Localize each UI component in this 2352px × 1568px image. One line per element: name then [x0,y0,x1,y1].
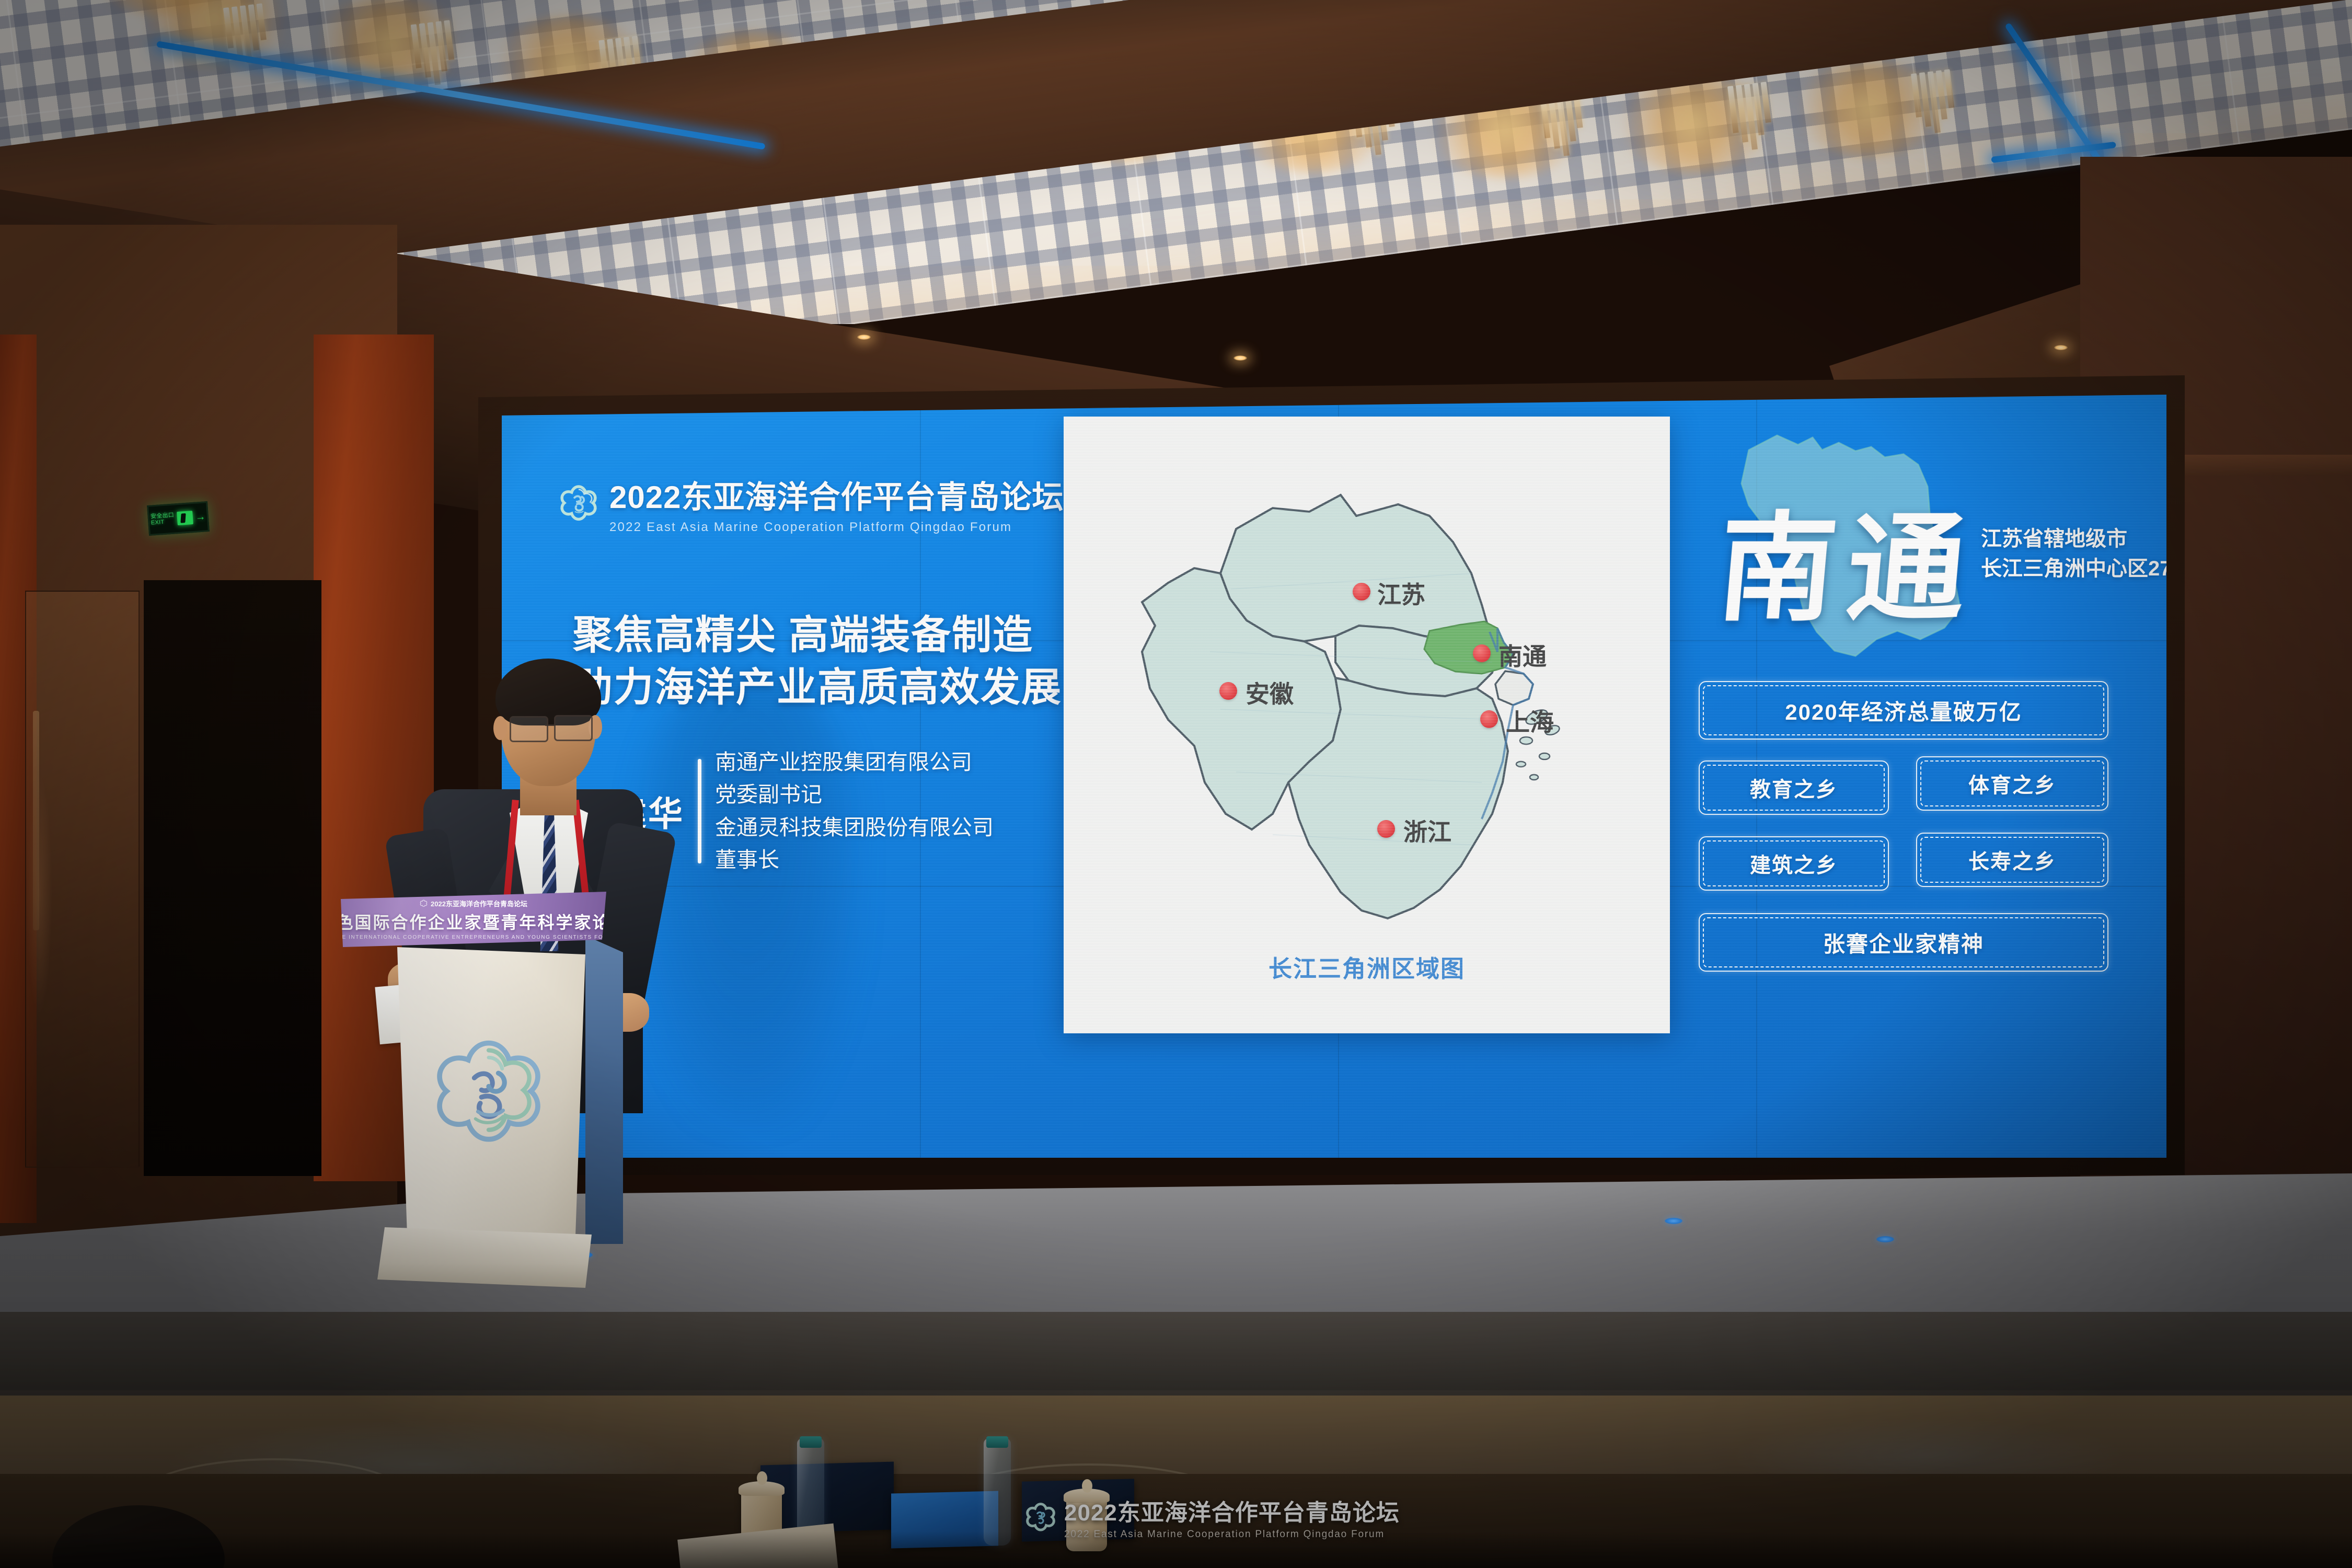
podium-sign: 2022东亚海洋合作平台青岛论坛 蓝色国际合作企业家暨青年科学家论坛 BLUE … [341,892,606,947]
map-dot-zhejiang [1377,820,1395,838]
foreground-banner-title-cn: 2022东亚海洋合作平台青岛论坛 [1064,1494,1400,1527]
bottle-cap[interactable] [800,1436,822,1448]
slide-headline-line1: 聚焦高精尖 高端装备制造 [573,610,1033,662]
yangtze-delta-map-svg [1064,417,1670,1033]
led-screen: 2022东亚海洋合作平台青岛论坛 2022 East Asia Marine C… [502,395,2166,1158]
conference-hall-photo: 安全出口 EXIT → [0,0,2352,1568]
exit-sign-text: 安全出口 EXIT [151,513,175,526]
map-label-zhejiang: 浙江 [1403,813,1451,848]
speaker-role-line: 党委副书记 [715,778,994,811]
presenter-glasses [554,715,593,741]
slide-forum-title-cn: 2022东亚海洋合作平台青岛论坛 [609,472,1064,517]
tea-cup-knob[interactable] [1082,1479,1092,1493]
flower-wave-logo-icon [420,900,428,907]
presenter-glasses-bridge [545,724,555,726]
map-dot-anhui [1219,682,1237,700]
flower-wave-logo-icon [1024,1501,1057,1534]
presenter-shadow [632,672,862,1126]
glass-rod-fixture [1911,69,1957,135]
podium-sign-top-text: 2022东亚海洋合作平台青岛论坛 [431,898,527,908]
flower-wave-logo-icon [558,483,599,524]
door-ornament [26,774,52,1014]
recessed-downlight [1233,355,1247,361]
podium-sign-main-cn: 蓝色国际合作企业家暨青年科学家论坛 [341,909,606,933]
nantong-calligraphy-title: 南通 [1712,473,1986,643]
water-bottle[interactable] [984,1438,1011,1546]
emergency-exit-sign: 安全出口 EXIT → [147,501,210,536]
doorway[interactable] [144,580,321,1176]
slide-header: 2022东亚海洋合作平台青岛论坛 2022 East Asia Marine C… [558,472,1064,535]
tea-cup-knob[interactable] [757,1471,767,1485]
recessed-downlight [857,335,871,340]
bottle-cap[interactable] [986,1436,1008,1448]
slide-forum-title-en: 2022 East Asia Marine Cooperation Platfo… [609,520,1064,535]
nantong-subtitle: 江苏省辖地级市 长江三角洲中心区27城之一 [1981,524,2166,584]
running-person-exit-icon [177,511,193,525]
nantong-subtitle-line1: 江苏省辖地级市 [1981,524,2166,554]
map-caption: 长江三角洲区域图 [1064,950,1670,984]
speaker-role-line: 董事长 [715,844,994,876]
map-label-jiangsu: 江苏 [1377,576,1425,610]
speaker-role-line: 南通产业控股集团有限公司 [715,746,994,778]
map-label-anhui: 安徽 [1246,675,1294,710]
nantong-tag-architecture: 建筑之乡 [1699,836,1889,891]
nantong-tag-entrepreneur-spirit: 张謇企业家精神 [1699,913,2108,972]
nantong-tag-sports: 体育之乡 [1916,756,2108,811]
glass-rod-fixture [1727,82,1774,152]
map-dot-nantong [1473,644,1491,662]
podium-sign-main-en: BLUE INTERNATIONAL COOPERATIVE ENTREPREN… [341,935,606,940]
map-region-jiangsu [1220,495,1490,641]
podium-side-panel [585,936,623,1244]
nantong-tag-longevity: 长寿之乡 [1916,833,2108,887]
presenter-glasses [510,716,548,742]
slide-speaker-roles: 南通产业控股集团有限公司 党委副书记 金通灵科技集团股份有限公司 董事长 [715,746,994,876]
stage-floor-marker [1665,1218,1682,1224]
podium-front-logo [429,1032,549,1155]
foreground-vignette [0,1531,2352,1568]
slide-headline-line2: 助力海洋产业高质高效发展 [573,662,1062,714]
glass-rod-fixture [411,20,457,87]
nantong-tag-education: 教育之乡 [1699,760,1889,815]
podium-base [377,1227,597,1288]
podium-sign-top-row: 2022东亚海洋合作平台青岛论坛 [420,898,527,908]
speaker-role-line: 金通灵科技集团股份有限公司 [715,811,994,844]
map-dot-shanghai [1480,710,1498,728]
presenter-ear [493,716,507,740]
nantong-subtitle-line2: 长江三角洲中心区27城之一 [1981,554,2166,584]
nantong-tag-economy: 2020年经济总量破万亿 [1699,681,2108,740]
flower-wave-logo-icon [429,1032,549,1152]
map-label-nantong: 南通 [1498,638,1547,672]
map-dot-jiangsu [1353,583,1370,601]
yangtze-delta-map-card: 江苏 南通 安徽 上海 浙江 长江三角洲区域图 [1064,417,1670,1033]
recessed-downlight [2054,345,2068,350]
arrow-right-icon: → [195,511,206,522]
map-label-shanghai: 上海 [1506,704,1554,738]
stage-floor-marker [1876,1236,1894,1242]
